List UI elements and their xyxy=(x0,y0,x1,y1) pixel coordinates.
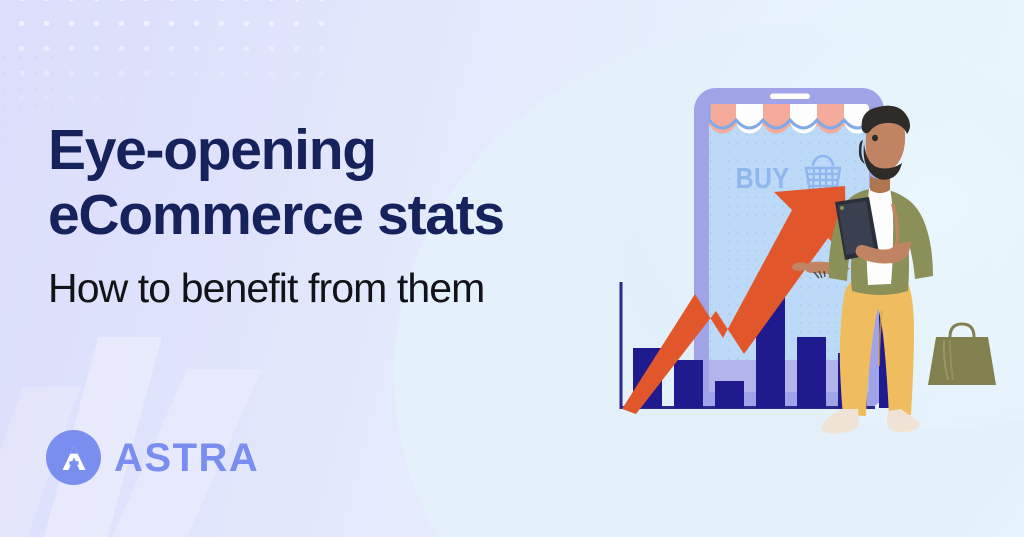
chart-bar xyxy=(797,337,826,408)
astra-a-mark-icon xyxy=(46,430,101,485)
chart-bar xyxy=(715,381,744,408)
shopping-bag-icon xyxy=(928,324,996,385)
buy-label: BUY xyxy=(736,162,790,194)
promo-banner: Eye-opening eCommerce stats How to benef… xyxy=(0,0,1024,537)
chart-bar xyxy=(674,360,703,408)
banner-copy: Eye-opening eCommerce stats How to benef… xyxy=(48,118,608,311)
astra-logo[interactable]: ASTRA xyxy=(46,430,259,485)
astra-wordmark: ASTRA xyxy=(114,438,259,478)
page-subtitle: How to benefit from them xyxy=(48,266,608,311)
ecommerce-growth-illustration: BUY xyxy=(592,60,1024,460)
page-title: Eye-opening eCommerce stats xyxy=(48,118,608,248)
